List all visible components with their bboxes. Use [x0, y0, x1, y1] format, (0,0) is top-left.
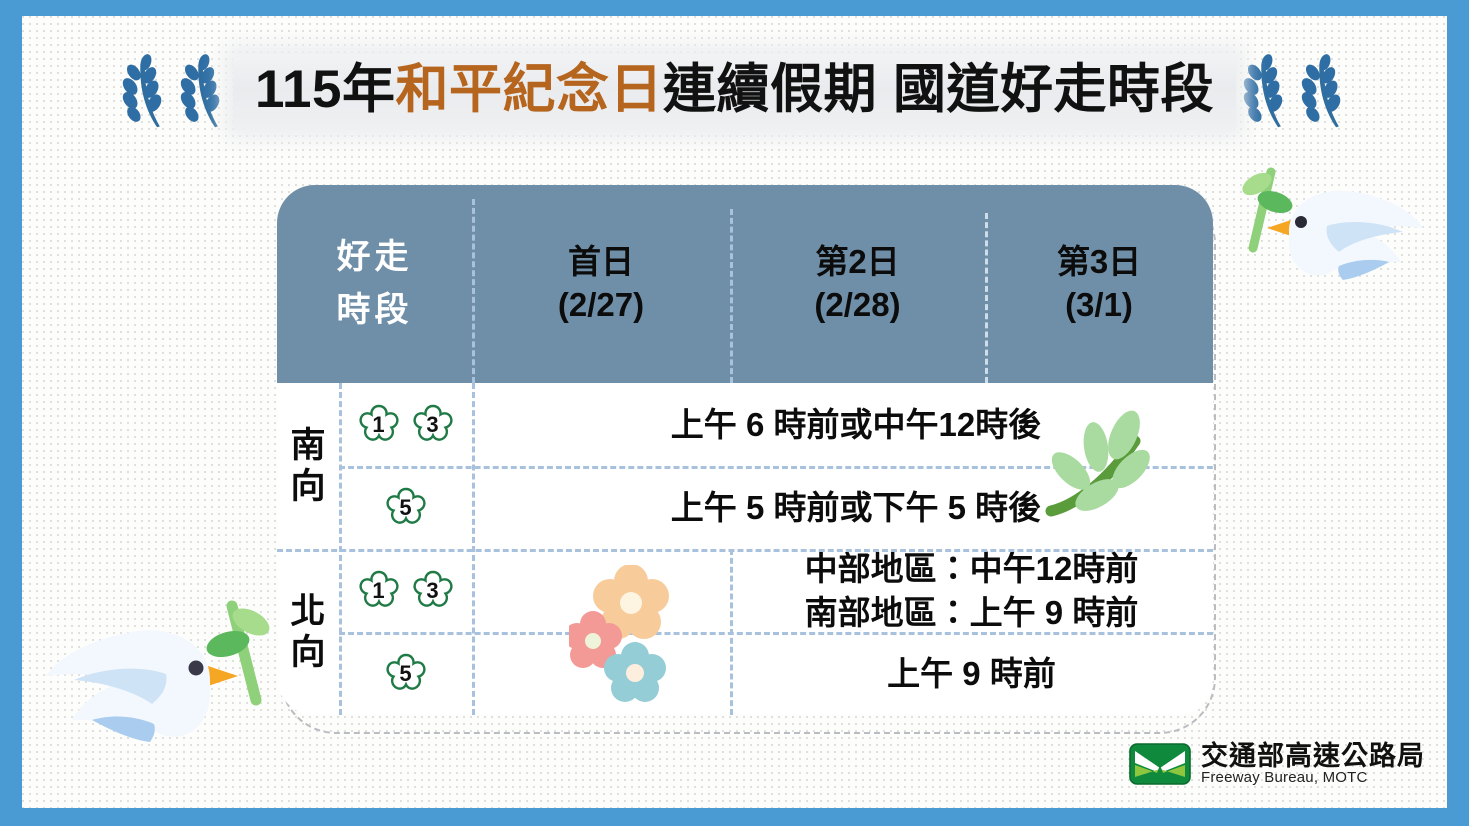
cell-north-row1-line2: 南部地區：上午 9 時前 [805, 591, 1139, 635]
column-header-day3-name: 第3日 [1057, 241, 1141, 284]
route-badges-south-row1: 1 3 [339, 383, 472, 466]
table-card: 好走 時段 首日 (2/27) 第2日 (2/28) 第3日 (3/1) [277, 185, 1213, 715]
freeway-bureau-logo-icon [1129, 743, 1191, 785]
column-header-day2-name: 第2日 [815, 241, 899, 284]
freeway-bureau-logo: 交通部高速公路局 Freeway Bureau, MOTC [1129, 742, 1425, 786]
good-travel-time-table: 好走 時段 首日 (2/27) 第2日 (2/28) 第3日 (3/1) [262, 168, 1212, 732]
title-highlight: 和平紀念日 [396, 60, 664, 119]
logo-name-en: Freeway Bureau, MOTC [1201, 770, 1425, 786]
route-badges-north-row2: 5 [339, 632, 472, 715]
route-badge-freeway-3: 3 [410, 402, 456, 448]
body-row-divider-north [339, 632, 1213, 635]
direction-south-line2: 向 [290, 466, 325, 507]
route-badge-number: 5 [383, 485, 429, 531]
cell-north-row1-time: 中部地區：中午12時前 南部地區：上午 9 時前 [730, 549, 1213, 632]
page-title: 115年和平紀念日連續假期國道好走時段 [233, 54, 1236, 129]
title-suffix: 國道好走時段 [893, 60, 1214, 119]
flower-cluster-icon [569, 565, 699, 705]
logo-name-cn: 交通部高速公路局 [1201, 742, 1425, 770]
route-badge-number: 5 [383, 651, 429, 697]
route-badge-number: 3 [410, 568, 456, 614]
header-divider-2 [730, 209, 733, 383]
dove-with-olive-branch-icon [34, 592, 284, 782]
poster-title-row: 115年和平紀念日連續假期國道好走時段 [22, 46, 1447, 138]
column-header-day1-date: (2/27) [558, 284, 644, 327]
poster-root: 115年和平紀念日連續假期國道好走時段 [0, 0, 1469, 826]
column-header-day2-date: (2/28) [814, 284, 900, 327]
route-badges-south-row2: 5 [339, 466, 472, 549]
column-header-day3-date: (3/1) [1065, 284, 1133, 327]
corner-header-line1: 好走 [337, 231, 413, 284]
direction-south-line1: 南 [290, 425, 325, 466]
direction-label-north: 北 向 [277, 549, 339, 715]
route-badge-freeway-5: 5 [383, 651, 429, 697]
title-prefix: 115年 [255, 60, 396, 119]
table-corner-header: 好走 時段 [277, 185, 472, 383]
column-header-day2: 第2日 (2/28) [730, 185, 985, 383]
laurel-branch-icon [1296, 53, 1352, 131]
direction-north-line2: 向 [290, 632, 325, 673]
laurel-branch-icon [175, 53, 231, 131]
route-badge-freeway-1: 1 [356, 402, 402, 448]
column-header-day1-name: 首日 [568, 241, 634, 284]
route-badges-north-row1: 1 3 [339, 549, 472, 632]
header-divider-1 [472, 199, 475, 383]
corner-header-line2: 時段 [337, 284, 413, 337]
route-badge-freeway-5: 5 [383, 485, 429, 531]
cell-north-row1-line1: 中部地區：中午12時前 [805, 547, 1139, 591]
direction-north-line1: 北 [290, 591, 325, 632]
route-badge-number: 3 [410, 402, 456, 448]
poster-canvas: 115年和平紀念日連續假期國道好走時段 [22, 16, 1447, 808]
logo-text-block: 交通部高速公路局 Freeway Bureau, MOTC [1201, 742, 1425, 786]
direction-label-south: 南 向 [277, 383, 339, 549]
laurel-branch-icon [1238, 53, 1294, 131]
column-header-day1: 首日 (2/27) [472, 185, 730, 383]
header-divider-3 [985, 213, 988, 383]
dove-with-olive-branch-icon [1231, 162, 1431, 312]
olive-leaf-branch-icon [1039, 407, 1169, 527]
column-header-day3: 第3日 (3/1) [985, 185, 1213, 383]
laurel-branch-icon [117, 53, 173, 131]
title-middle: 連續假期 [663, 60, 877, 119]
route-badge-freeway-1: 1 [356, 568, 402, 614]
route-badge-freeway-3: 3 [410, 568, 456, 614]
route-badge-number: 1 [356, 402, 402, 448]
body-direction-divider [277, 549, 1213, 552]
route-badge-number: 1 [356, 568, 402, 614]
cell-north-row2-time: 上午 9 時前 [730, 632, 1213, 715]
